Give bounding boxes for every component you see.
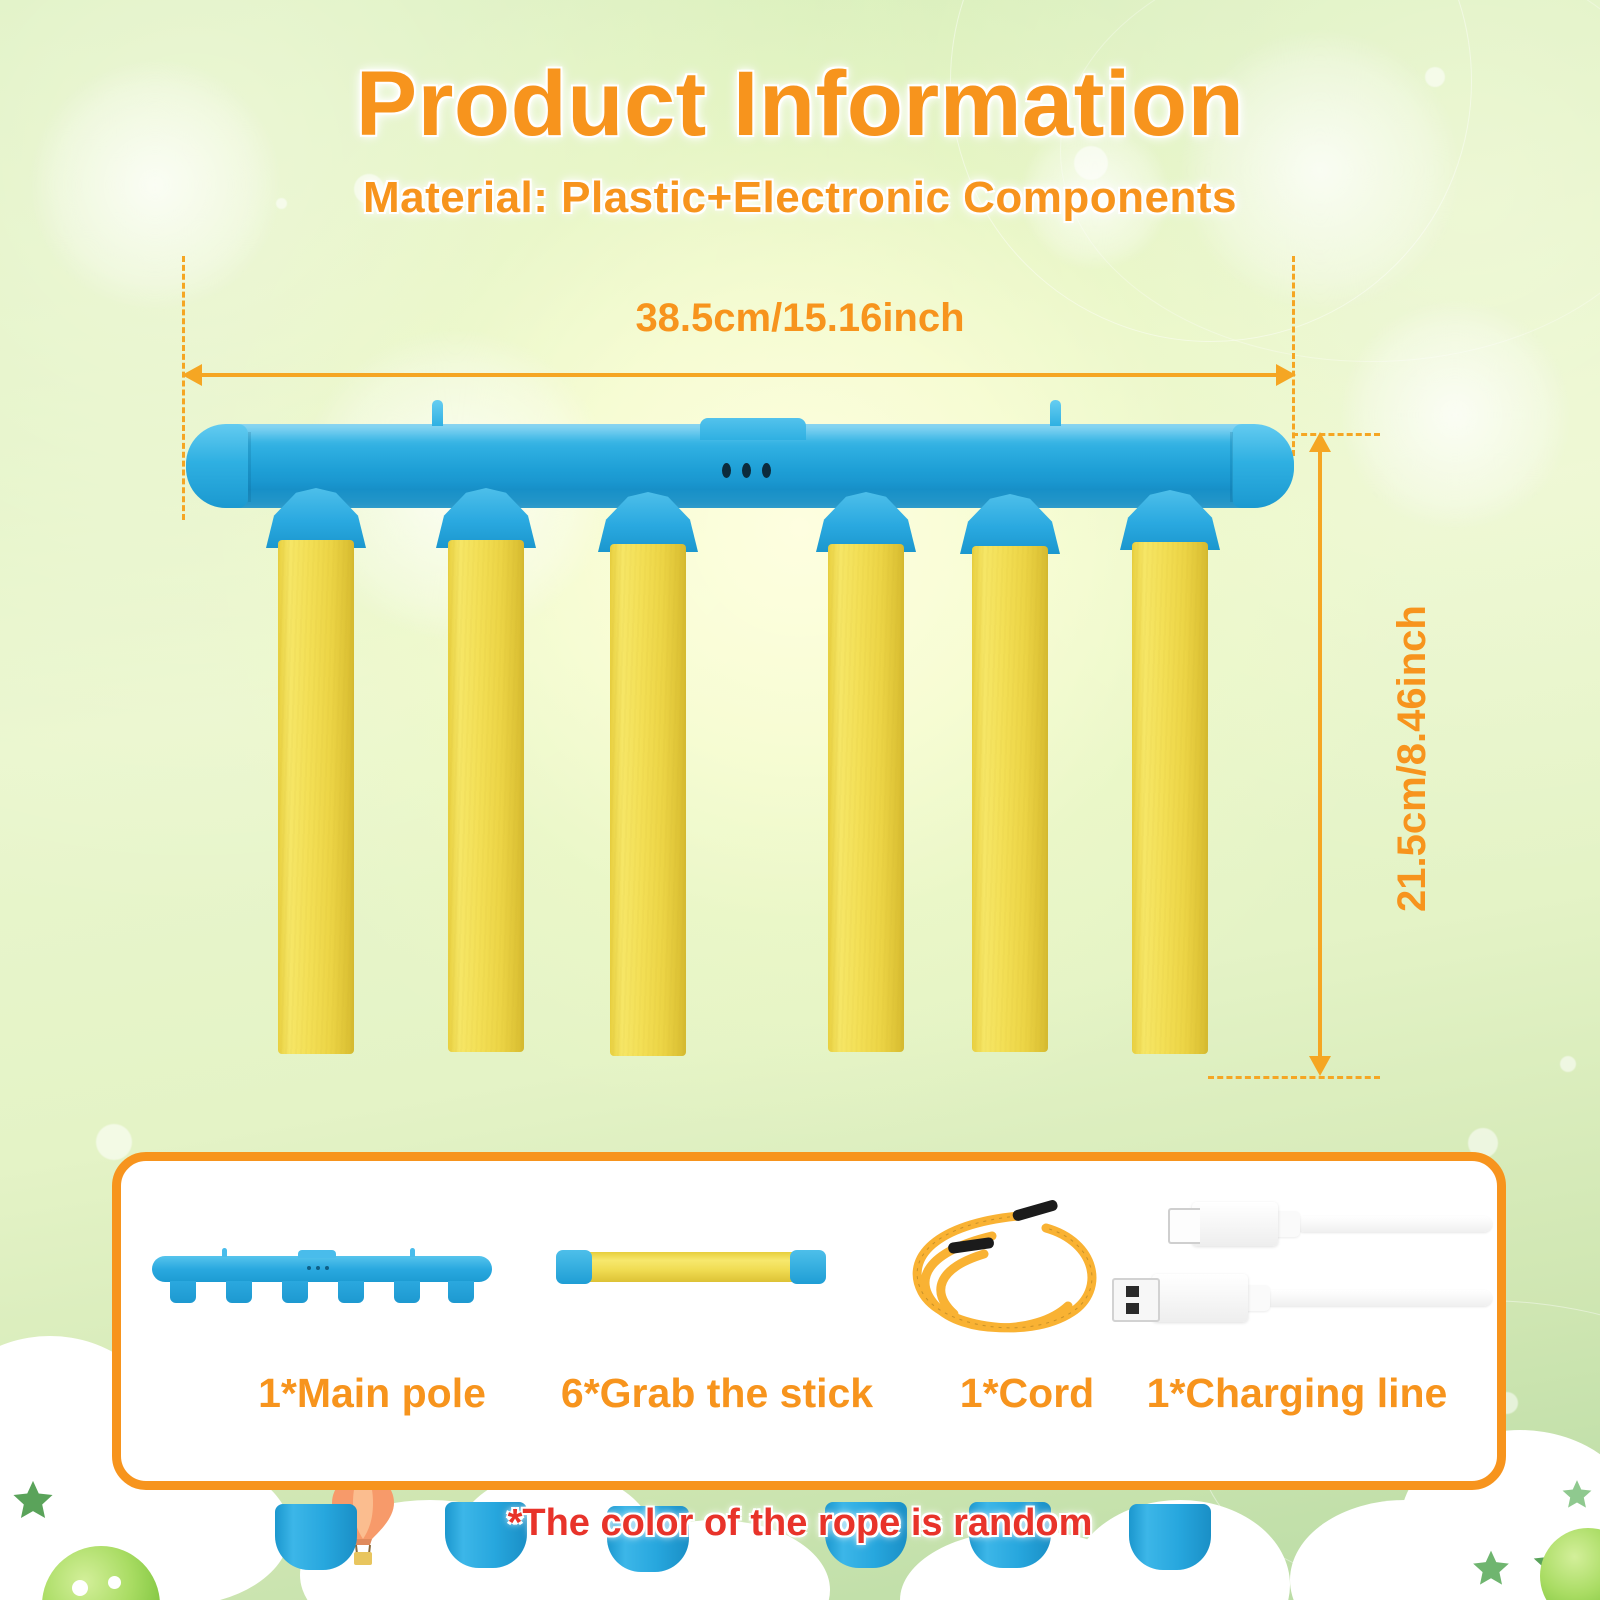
width-dimension-line xyxy=(200,373,1276,377)
cable-wire xyxy=(1296,1216,1492,1232)
usb-pin xyxy=(1126,1286,1139,1297)
main-pole-nub xyxy=(1050,400,1061,426)
usb-a-plug xyxy=(1152,1274,1248,1322)
width-arrow-right-icon xyxy=(1276,364,1296,386)
indicator-light xyxy=(722,463,731,478)
main-pole-nub xyxy=(432,400,443,426)
height-guide-bottom xyxy=(1208,1076,1380,1079)
indicator-light xyxy=(762,463,771,478)
height-arrow-down-icon xyxy=(1309,1056,1331,1076)
usb-a-tip xyxy=(1112,1278,1160,1322)
bokeh-dot xyxy=(1560,1056,1576,1072)
star-icon xyxy=(1470,1548,1512,1595)
grab-stick-foam xyxy=(278,540,354,1054)
micro-usb-plug xyxy=(1192,1202,1278,1246)
height-dimension-label: 21.5cm/8.46inch xyxy=(1390,605,1435,912)
micro-usb-tip xyxy=(1168,1208,1200,1244)
page-subtitle: Material: Plastic+Electronic Components xyxy=(0,176,1600,220)
grab-stick-foam xyxy=(1132,542,1208,1054)
page-title: Product Information xyxy=(0,58,1600,150)
component-label-charging-line: 1*Charging line xyxy=(1122,1370,1472,1417)
grab-stick-foam xyxy=(828,544,904,1052)
bokeh-dot xyxy=(96,1124,132,1160)
component-label-grab-stick: 6*Grab the stick xyxy=(502,1370,932,1417)
grab-stick-foam xyxy=(448,540,524,1052)
height-arrow-up-icon xyxy=(1309,432,1331,452)
width-guide-right xyxy=(1292,256,1295,456)
width-arrow-left-icon xyxy=(182,364,202,386)
component-labels: 1*Main pole 6*Grab the stick 1*Cord 1*Ch… xyxy=(112,1370,1488,1430)
usb-pin xyxy=(1126,1303,1139,1314)
main-pole-seam xyxy=(248,432,251,502)
main-pole-seam xyxy=(1230,432,1233,502)
cord-thumbnail xyxy=(896,1196,1086,1346)
indicator-light xyxy=(742,463,751,478)
rope-color-disclaimer: *The color of the rope is random xyxy=(0,1502,1600,1545)
height-guide-top xyxy=(1292,433,1380,436)
height-dimension-line xyxy=(1318,450,1322,1058)
components-box xyxy=(112,1152,1506,1490)
component-label-main-pole: 1*Main pole xyxy=(212,1370,532,1417)
infographic-canvas: Product Information Material: Plastic+El… xyxy=(0,0,1600,1600)
grab-stick-foam xyxy=(610,544,686,1056)
grab-stick-foam xyxy=(972,546,1048,1052)
component-label-cord: 1*Cord xyxy=(902,1370,1152,1417)
cable-wire xyxy=(1264,1290,1492,1306)
width-dimension-label: 38.5cm/15.16inch xyxy=(0,296,1600,341)
main-pole-switch-panel xyxy=(700,418,806,440)
